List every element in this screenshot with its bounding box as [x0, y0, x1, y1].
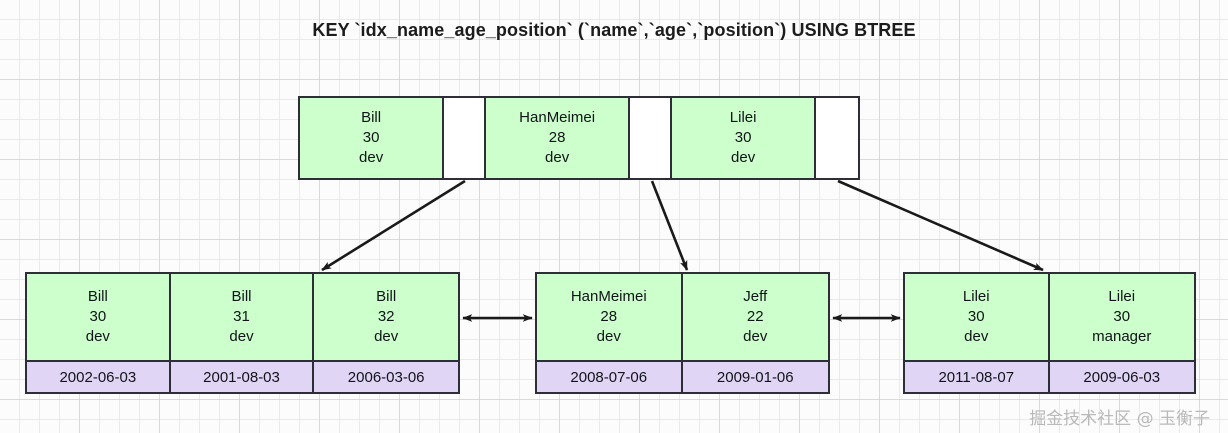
root-key-1-position: dev — [359, 148, 383, 168]
leaf-2-entry-1-value: 2008-07-06 — [537, 362, 681, 392]
leaf-2-entry-1-age: 28 — [600, 307, 617, 327]
leaf-2-entry-2-position: dev — [743, 327, 767, 347]
root-node: Bill 30 dev HanMeimei 28 dev Lilei 30 de… — [298, 96, 860, 180]
root-to-leaf-2 — [652, 181, 687, 270]
watermark: 掘金技术社区 @ 玉衡子 — [1029, 404, 1210, 429]
root-key-3-position: dev — [731, 148, 755, 168]
leaf-3-entry-1-value: 2011-08-07 — [905, 362, 1048, 392]
leaf-2-entry-1-position: dev — [597, 327, 621, 347]
root-key-cell-1: Bill 30 dev — [300, 98, 444, 178]
root-to-leaf-1 — [322, 181, 465, 270]
root-key-2-age: 28 — [549, 128, 566, 148]
leaf-2-entry-2-name: Jeff — [743, 287, 767, 307]
leaf-3-entry-1-age: 30 — [968, 307, 985, 327]
leaf-1-entry-2-value: 2001-08-03 — [171, 362, 313, 392]
leaf-3-entry-1-key: Lilei 30 dev — [905, 274, 1048, 362]
leaf-2-entry-1-name: HanMeimei — [571, 287, 647, 307]
root-key-cell-2: HanMeimei 28 dev — [486, 98, 630, 178]
root-pointer-cell-3 — [816, 98, 858, 178]
leaf-3-entry-2-name: Lilei — [1108, 287, 1135, 307]
root-key-2-name: HanMeimei — [519, 108, 595, 128]
page-title: KEY `idx_name_age_position` (`name`,`age… — [0, 20, 1228, 41]
leaf-1-entry-1-age: 30 — [89, 307, 106, 327]
leaf-1-entry-3-key: Bill 32 dev — [314, 274, 458, 362]
leaf-3-entry-2: Lilei 30 manager 2009-06-03 — [1050, 274, 1194, 392]
leaf-3-entry-2-age: 30 — [1113, 307, 1130, 327]
leaf-3-entry-2-key: Lilei 30 manager — [1050, 274, 1194, 362]
leaf-2-entry-1-key: HanMeimei 28 dev — [537, 274, 681, 362]
leaf-1-entry-1-name: Bill — [88, 287, 108, 307]
leaf-node-1: Bill 30 dev 2002-06-03 Bill 31 dev 2001-… — [25, 272, 460, 394]
leaf-2-entry-1: HanMeimei 28 dev 2008-07-06 — [537, 274, 683, 392]
root-pointer-cell-2 — [630, 98, 672, 178]
leaf-1-entry-3-value: 2006-03-06 — [314, 362, 458, 392]
leaf-1-entry-3-name: Bill — [376, 287, 396, 307]
leaf-1-entry-1: Bill 30 dev 2002-06-03 — [27, 274, 171, 392]
root-key-2-position: dev — [545, 148, 569, 168]
leaf-1-entry-3-age: 32 — [378, 307, 395, 327]
root-key-cell-3: Lilei 30 dev — [672, 98, 816, 178]
leaf-3-entry-2-value: 2009-06-03 — [1050, 362, 1194, 392]
root-key-1-age: 30 — [363, 128, 380, 148]
root-key-3-age: 30 — [735, 128, 752, 148]
leaf-1-entry-1-value: 2002-06-03 — [27, 362, 169, 392]
leaf-node-3: Lilei 30 dev 2011-08-07 Lilei 30 manager… — [903, 272, 1196, 394]
leaf-2-entry-2-value: 2009-01-06 — [683, 362, 828, 392]
leaf-3-entry-1-position: dev — [964, 327, 988, 347]
leaf-1-entry-3-position: dev — [374, 327, 398, 347]
leaf-1-entry-2: Bill 31 dev 2001-08-03 — [171, 274, 315, 392]
leaf-node-2: HanMeimei 28 dev 2008-07-06 Jeff 22 dev … — [535, 272, 830, 394]
root-key-1-name: Bill — [361, 108, 381, 128]
leaf-3-entry-1-name: Lilei — [963, 287, 990, 307]
leaf-2-entry-2-age: 22 — [747, 307, 764, 327]
root-to-leaf-3 — [838, 181, 1043, 270]
leaf-3-entry-1: Lilei 30 dev 2011-08-07 — [905, 274, 1050, 392]
leaf-2-entry-2-key: Jeff 22 dev — [683, 274, 828, 362]
leaf-1-entry-3: Bill 32 dev 2006-03-06 — [314, 274, 458, 392]
leaf-1-entry-2-age: 31 — [233, 307, 250, 327]
leaf-1-entry-2-position: dev — [229, 327, 253, 347]
leaf-1-entry-1-key: Bill 30 dev — [27, 274, 169, 362]
leaf-2-entry-2: Jeff 22 dev 2009-01-06 — [683, 274, 828, 392]
leaf-1-entry-1-position: dev — [86, 327, 110, 347]
leaf-1-entry-2-key: Bill 31 dev — [171, 274, 313, 362]
leaf-1-entry-2-name: Bill — [232, 287, 252, 307]
leaf-3-entry-2-position: manager — [1092, 327, 1151, 347]
diagram-canvas: KEY `idx_name_age_position` (`name`,`age… — [0, 0, 1228, 433]
root-key-3-name: Lilei — [730, 108, 757, 128]
root-pointer-cell-1 — [444, 98, 486, 178]
